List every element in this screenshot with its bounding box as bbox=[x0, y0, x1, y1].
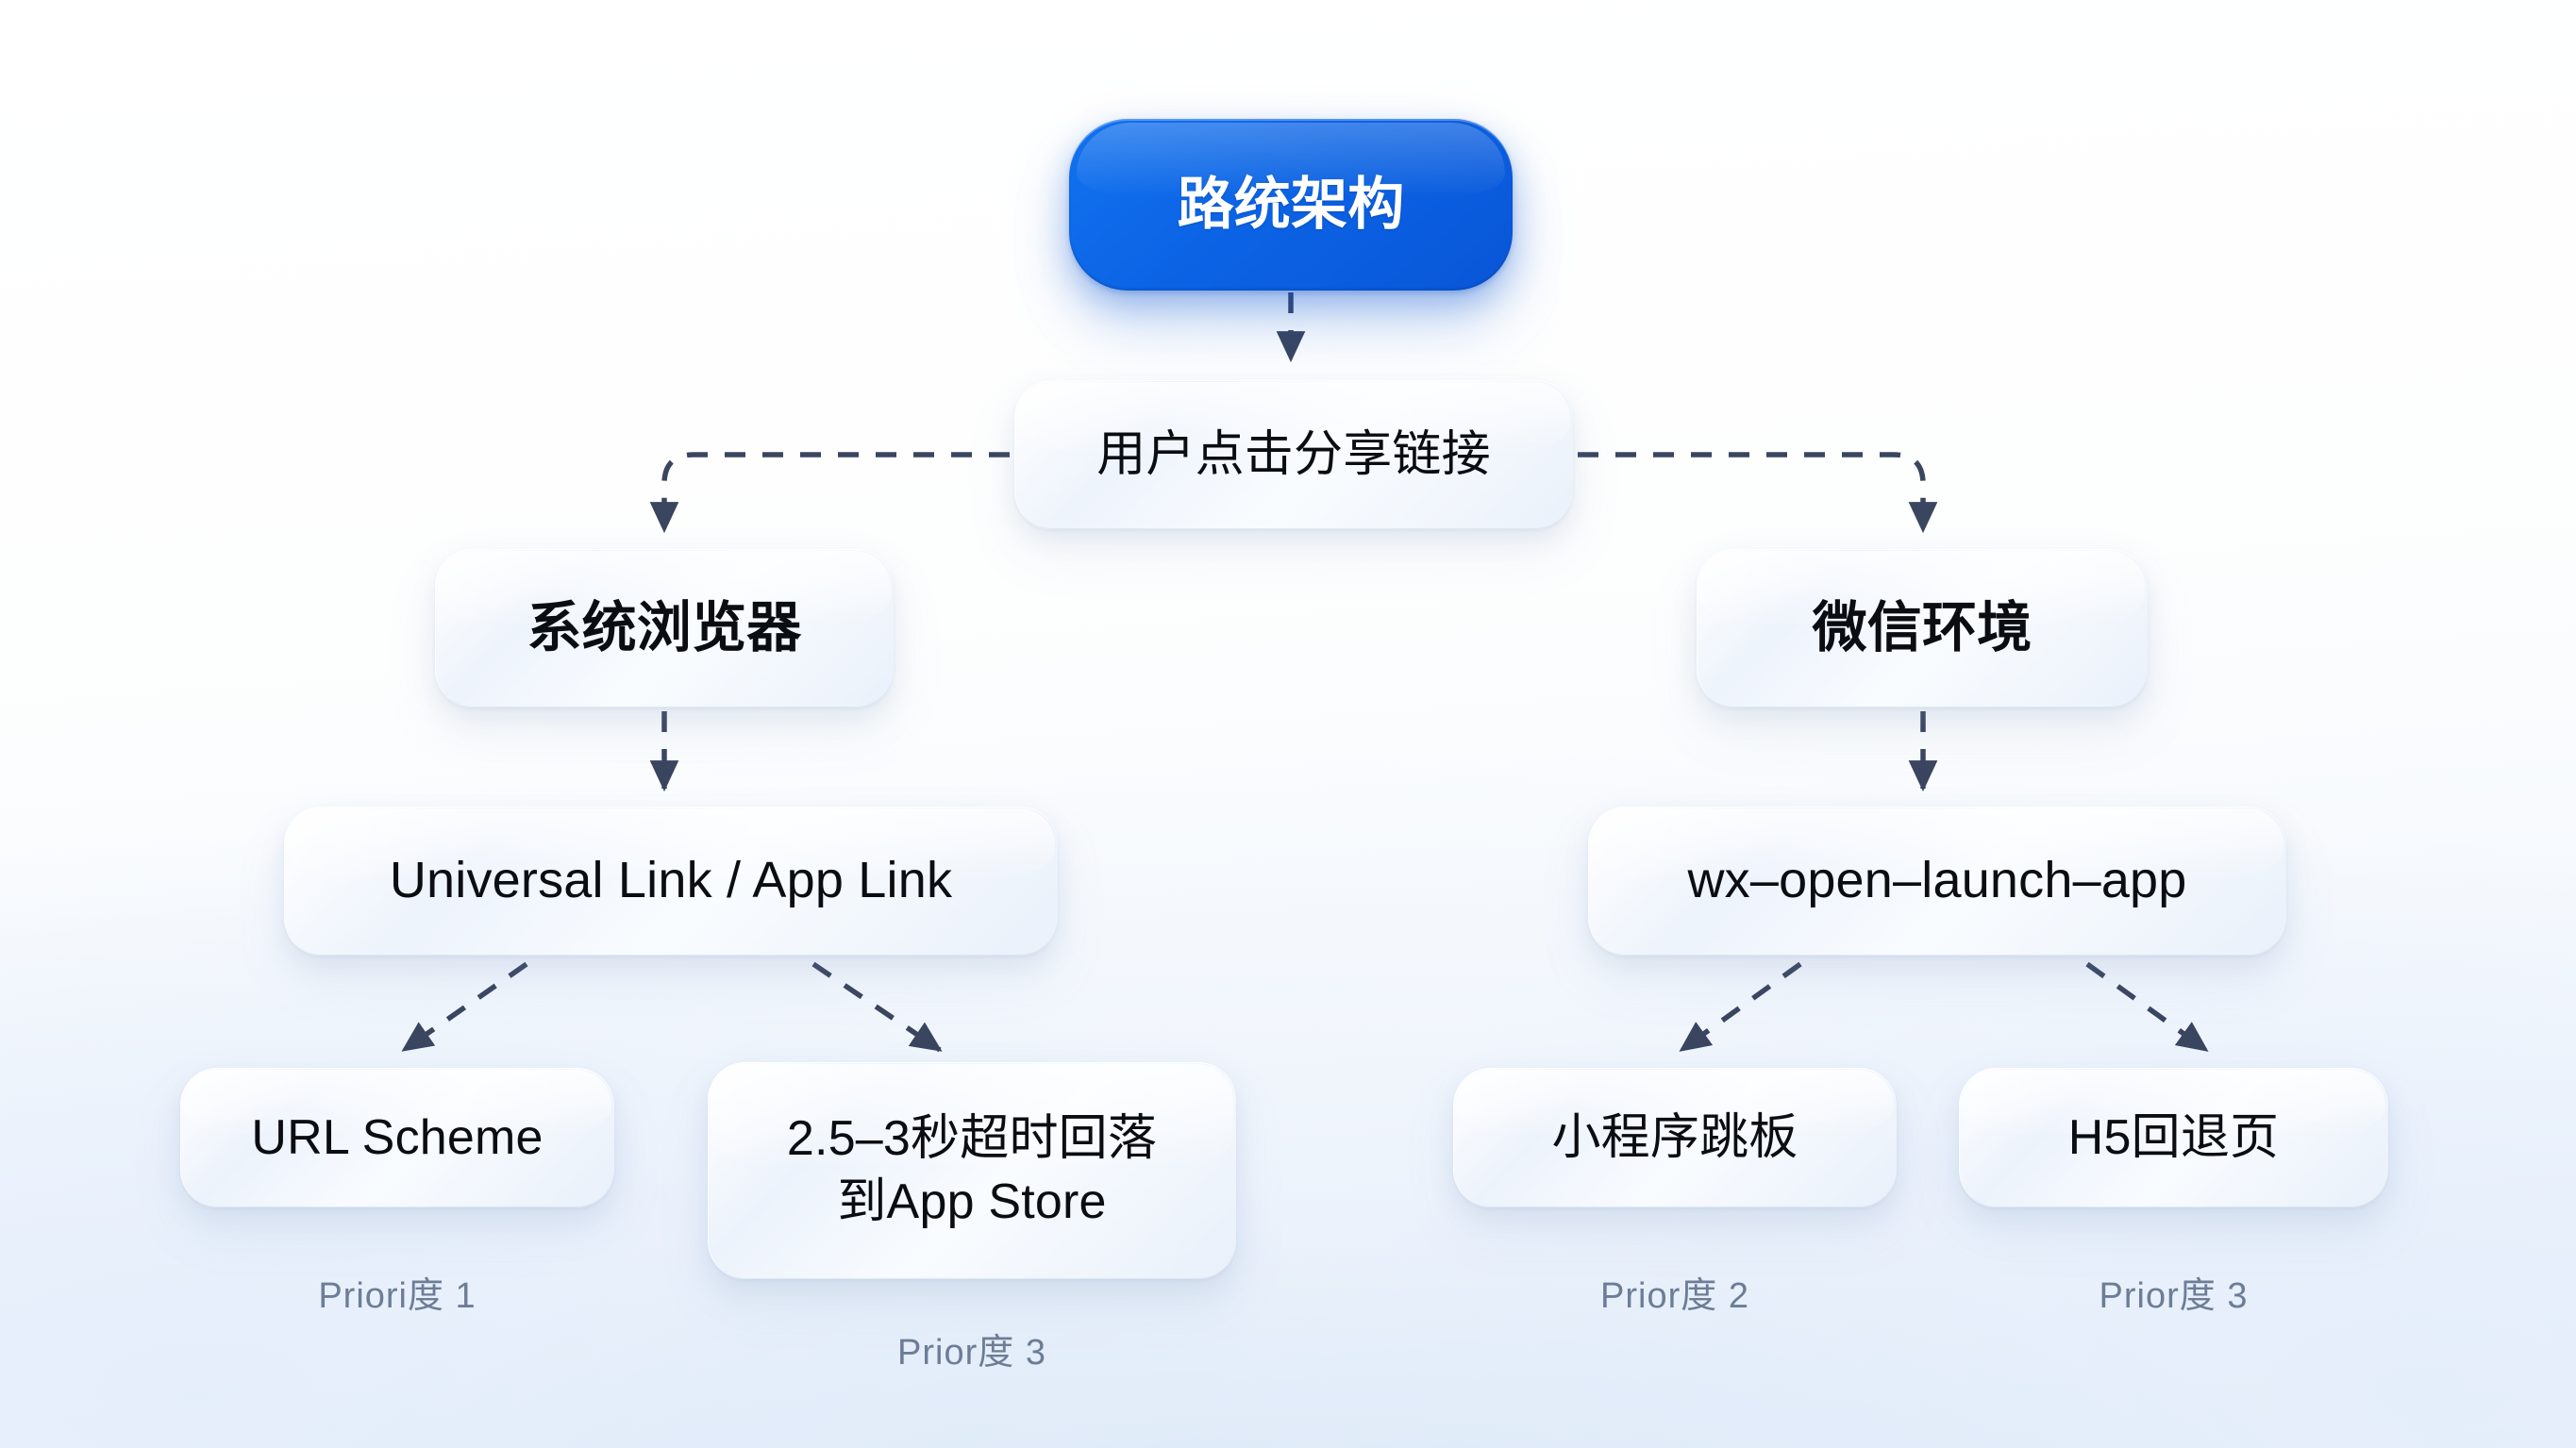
node-user-click-share-link-label: 用户点击分享链接 bbox=[1096, 424, 1491, 487]
edge-wxopen-to-mini bbox=[1681, 964, 1800, 1050]
edge-click-to-wechat bbox=[1578, 455, 1923, 530]
diagram-canvas: 路统架构 用户点击分享链接 系统浏览器 微信环境 Universal Link … bbox=[0, 0, 2576, 1448]
node-root[interactable]: 路统架构 bbox=[1069, 119, 1513, 291]
node-miniprogram-springboard-label: 小程序跳板 bbox=[1551, 1107, 1798, 1170]
edge-ulink-to-scheme bbox=[404, 964, 527, 1050]
edge-click-to-browser bbox=[664, 455, 1010, 530]
node-user-click-share-link[interactable]: 用户点击分享链接 bbox=[1014, 380, 1573, 529]
node-url-scheme[interactable]: URL Scheme bbox=[180, 1068, 614, 1207]
node-timeout-fallback-app-store-label: 2.5–3秒超时回落 到App Store bbox=[787, 1107, 1157, 1233]
caption-miniprogram-priority: Prior度 2 bbox=[1453, 1266, 1897, 1318]
node-system-browser-label: 系统浏览器 bbox=[527, 593, 801, 663]
node-universal-link-app-link[interactable]: Universal Link / App Link bbox=[284, 807, 1058, 956]
node-timeout-fallback-app-store[interactable]: 2.5–3秒超时回落 到App Store bbox=[708, 1062, 1236, 1279]
node-h5-fallback-page-label: H5回退页 bbox=[2068, 1107, 2279, 1170]
node-system-browser[interactable]: 系统浏览器 bbox=[435, 549, 894, 707]
node-wechat-environment[interactable]: 微信环境 bbox=[1697, 549, 2148, 707]
node-universal-link-app-link-label: Universal Link / App Link bbox=[390, 848, 952, 913]
caption-url-scheme-priority: Priori度 1 bbox=[180, 1266, 614, 1318]
caption-timeout-fallback-priority: Prior度 3 bbox=[708, 1323, 1236, 1374]
node-miniprogram-springboard[interactable]: 小程序跳板 bbox=[1453, 1068, 1897, 1207]
caption-h5-priority: Prior度 3 bbox=[1959, 1266, 2388, 1318]
node-wx-open-launch-app[interactable]: wx–open–launch–app bbox=[1588, 807, 2286, 956]
node-wx-open-launch-app-label: wx–open–launch–app bbox=[1687, 848, 2186, 913]
node-h5-fallback-page[interactable]: H5回退页 bbox=[1959, 1068, 2388, 1207]
edge-ulink-to-fallback bbox=[813, 964, 940, 1050]
node-wechat-environment-label: 微信环境 bbox=[1813, 593, 2032, 663]
node-root-label: 路统架构 bbox=[1178, 169, 1405, 241]
edge-wxopen-to-h5 bbox=[2087, 964, 2206, 1050]
node-url-scheme-label: URL Scheme bbox=[251, 1107, 543, 1170]
